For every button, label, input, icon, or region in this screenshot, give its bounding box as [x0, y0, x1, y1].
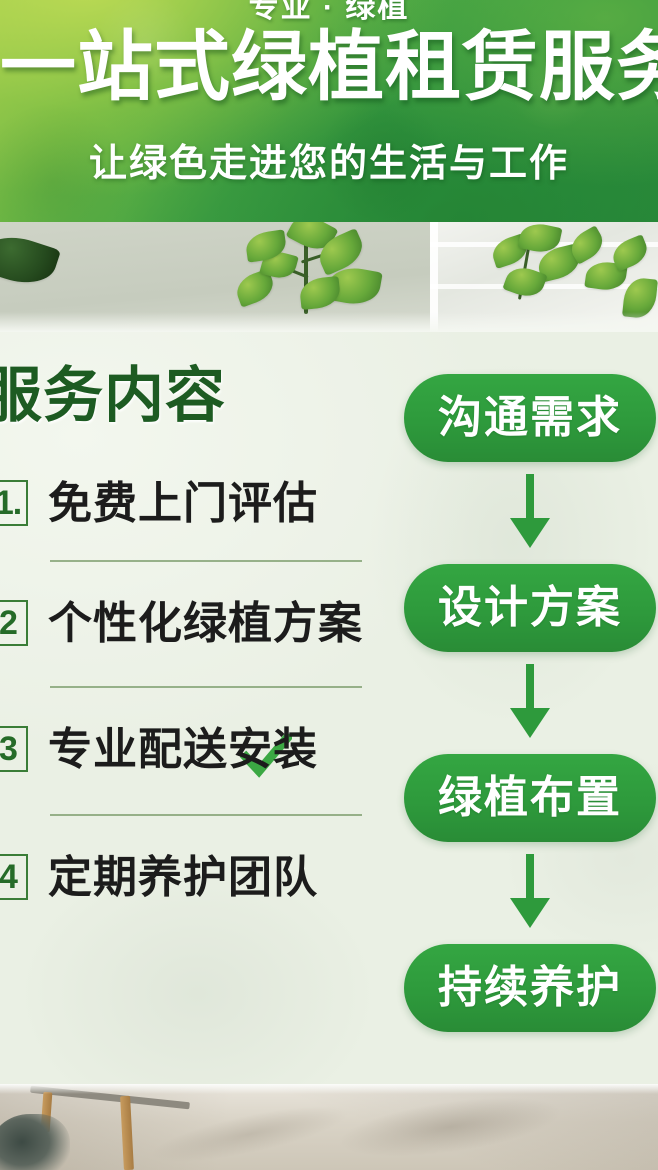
main-content: 服务内容 1. 免费上门评估 2 个性化绿植方案 3 专业配送安装: [0, 332, 658, 1084]
photo-dark-object: [0, 1114, 70, 1170]
flow-step-label: 绿植布置: [438, 772, 622, 824]
photo-bottom-fade: [0, 312, 658, 332]
flow-step-label: 沟通需求: [438, 392, 622, 444]
plant-photo-band: [0, 222, 658, 332]
header-headline: 一站式绿植租赁服务: [0, 26, 658, 110]
header-banner: 专业 · 绿植 一站式绿植租赁服务 让绿色走进您的生活与工作: [0, 0, 658, 222]
flow-step[interactable]: 绿植布置: [404, 754, 656, 842]
arrow-down-icon: [506, 854, 554, 930]
arrow-down-icon: [506, 664, 554, 740]
flow-step-label: 持续养护: [438, 962, 622, 1014]
flow-step[interactable]: 沟通需求: [404, 374, 656, 462]
flow-step[interactable]: 持续养护: [404, 944, 656, 1032]
poster-page: 专业 · 绿植 一站式绿植租赁服务 让绿色走进您的生活与工作: [0, 0, 658, 1170]
flow-step-label: 设计方案: [438, 582, 622, 634]
arrow-down-icon: [506, 474, 554, 550]
header-eyebrow: 专业 · 绿植: [0, 0, 658, 26]
flow-step[interactable]: 设计方案: [404, 564, 656, 652]
header-subhead: 让绿色走进您的生活与工作: [0, 140, 658, 188]
process-flowchart: 沟通需求 设计方案 绿植布置: [0, 332, 658, 1084]
floor-photo-band: [0, 1084, 658, 1170]
photo-top-fade: [0, 1084, 658, 1094]
